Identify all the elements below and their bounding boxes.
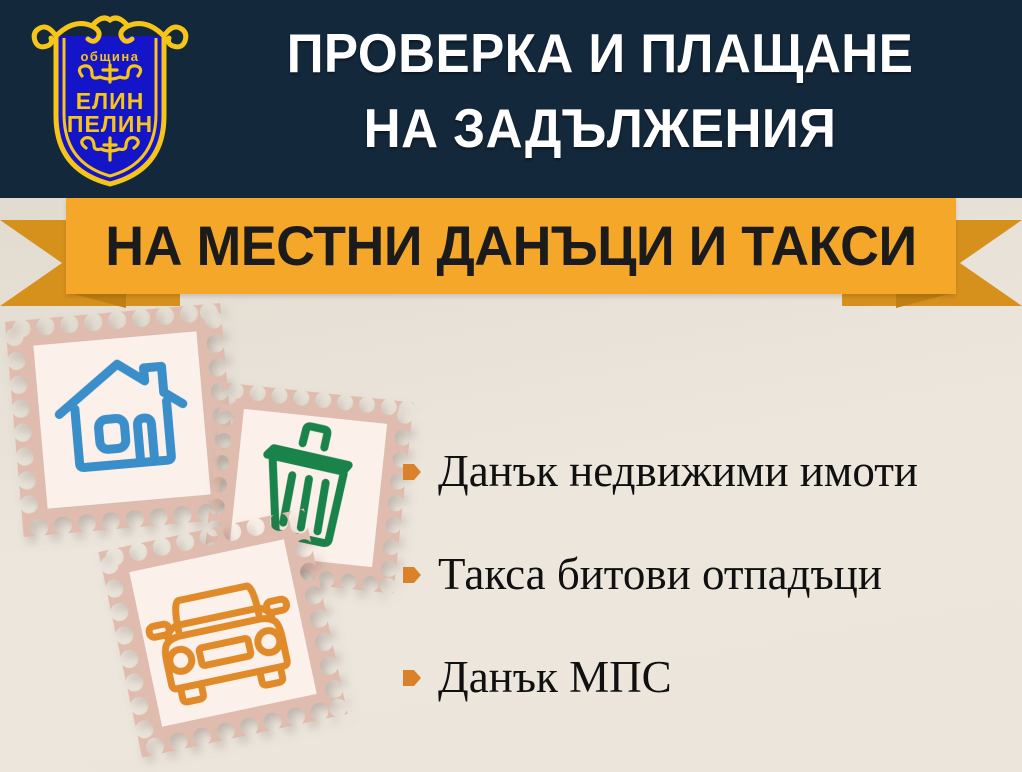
- poster-root: ПРОВЕРКА И ПЛАЩАНЕ НА ЗАДЪЛЖЕНИЯ община: [0, 0, 1022, 772]
- page-title-line-1: ПРОВЕРКА И ПЛАЩАНЕ: [219, 16, 982, 91]
- logo-text-pelin: ПЕЛИН: [67, 111, 153, 137]
- list-item-label: Данък МПС: [438, 655, 672, 700]
- list-item-label: Данък недвижими имоти: [438, 449, 918, 494]
- page-title: ПРОВЕРКА И ПЛАЩАНЕ НА ЗАДЪЛЖЕНИЯ: [219, 16, 982, 166]
- logo-text-obshtina: община: [80, 49, 139, 64]
- municipality-logo: община ЕЛИН ПЕЛИН: [30, 8, 190, 188]
- stamp-real-estate: [5, 303, 239, 537]
- ribbon-center-panel: НА МЕСТНИ ДАНЪЦИ И ТАКСИ: [66, 198, 956, 294]
- page-title-line-2: НА ЗАДЪЛЖЕНИЯ: [219, 91, 982, 166]
- house-icon: [5, 303, 239, 537]
- list-item-label: Такса битови отпадъци: [438, 552, 882, 597]
- arrow-bullet-icon: [402, 667, 422, 689]
- car-icon: [98, 508, 347, 757]
- stamp-vehicle: [98, 508, 347, 757]
- tax-type-list: Данък недвижими имоти Такса битови отпад…: [402, 420, 1012, 729]
- list-item[interactable]: Данък недвижими имоти: [402, 420, 1012, 523]
- list-item[interactable]: Данък МПС: [402, 626, 1012, 729]
- list-item[interactable]: Такса битови отпадъци: [402, 523, 1012, 626]
- ribbon-banner: НА МЕСТНИ ДАНЪЦИ И ТАКСИ: [0, 198, 1022, 306]
- ribbon-label: НА МЕСТНИ ДАНЪЦИ И ТАКСИ: [84, 198, 938, 294]
- coat-of-arms-icon: община ЕЛИН ПЕЛИН: [30, 8, 190, 188]
- arrow-bullet-icon: [402, 564, 422, 586]
- arrow-bullet-icon: [402, 461, 422, 483]
